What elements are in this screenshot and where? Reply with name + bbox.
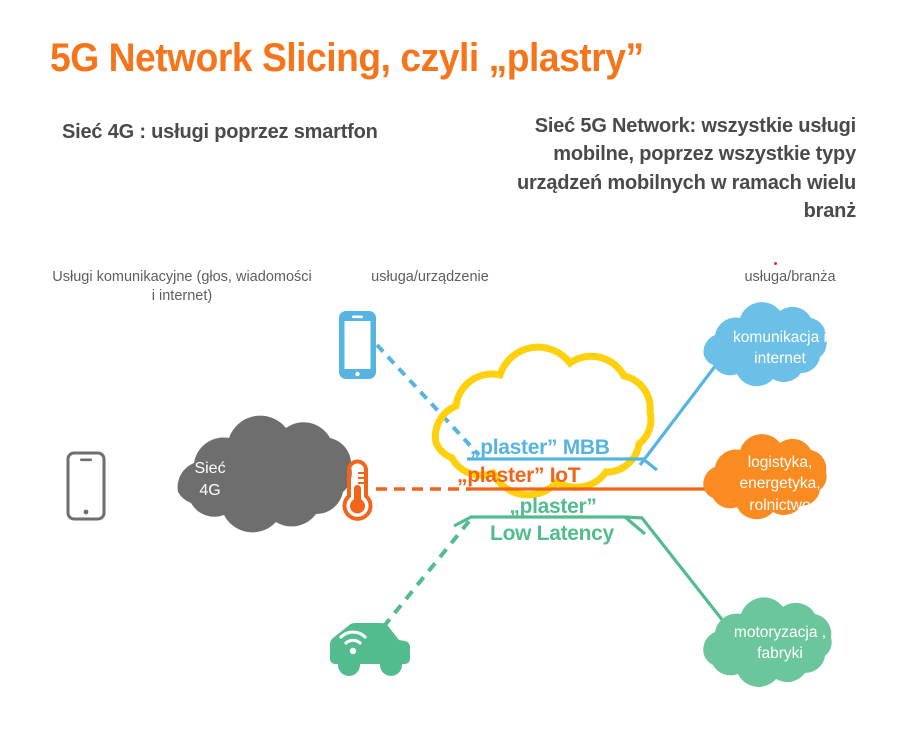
diagram-canvas: 5G Network Slicing, czyli „plastry” Sieć…	[0, 0, 914, 737]
cloud-4g-label-line1: Sieć	[194, 460, 225, 477]
cloud-industry-orange-label: logistyka, energetyka, rolnictwo	[700, 452, 860, 516]
cloud-4g-label: Sieć 4G	[150, 458, 270, 502]
cloud-4g-label-line2: 4G	[199, 482, 220, 499]
slice-label-lowlatency-line1: „plaster”	[509, 495, 596, 518]
cloud-orange-line1: logistyka,	[748, 454, 813, 471]
cloud-orange-line2: energetyka,	[740, 475, 821, 492]
cloud-green-line1: motoryzacja ,	[734, 624, 826, 641]
cloud-green-line2: fabryki	[757, 645, 803, 662]
cloud-orange-line3: rolnictwo	[749, 497, 810, 514]
cloud-industry-blue-label: komunikacja i internet	[700, 327, 860, 370]
cloud-blue-line1: komunikacja i	[733, 329, 827, 346]
cloud-blue-line2: internet	[754, 350, 806, 367]
slice-label-mbb: „plaster” MBB	[470, 436, 610, 460]
slice-label-lowlatency-line2: Low Latency	[476, 520, 628, 547]
smartphone-icon	[339, 311, 376, 379]
smartphone-icon-gray	[68, 453, 104, 519]
thermometer-icon	[345, 462, 371, 519]
cloud-industry-green-label: motoryzacja , fabryki	[700, 622, 860, 665]
connected-car-icon	[330, 623, 410, 676]
link-smartphone-to-mbb	[377, 345, 479, 455]
slice-label-lowlatency: „plaster” Low Latency	[478, 493, 628, 548]
slice-label-iot: „plaster” IoT	[457, 464, 580, 488]
link-car-to-lowlatency	[372, 520, 470, 641]
